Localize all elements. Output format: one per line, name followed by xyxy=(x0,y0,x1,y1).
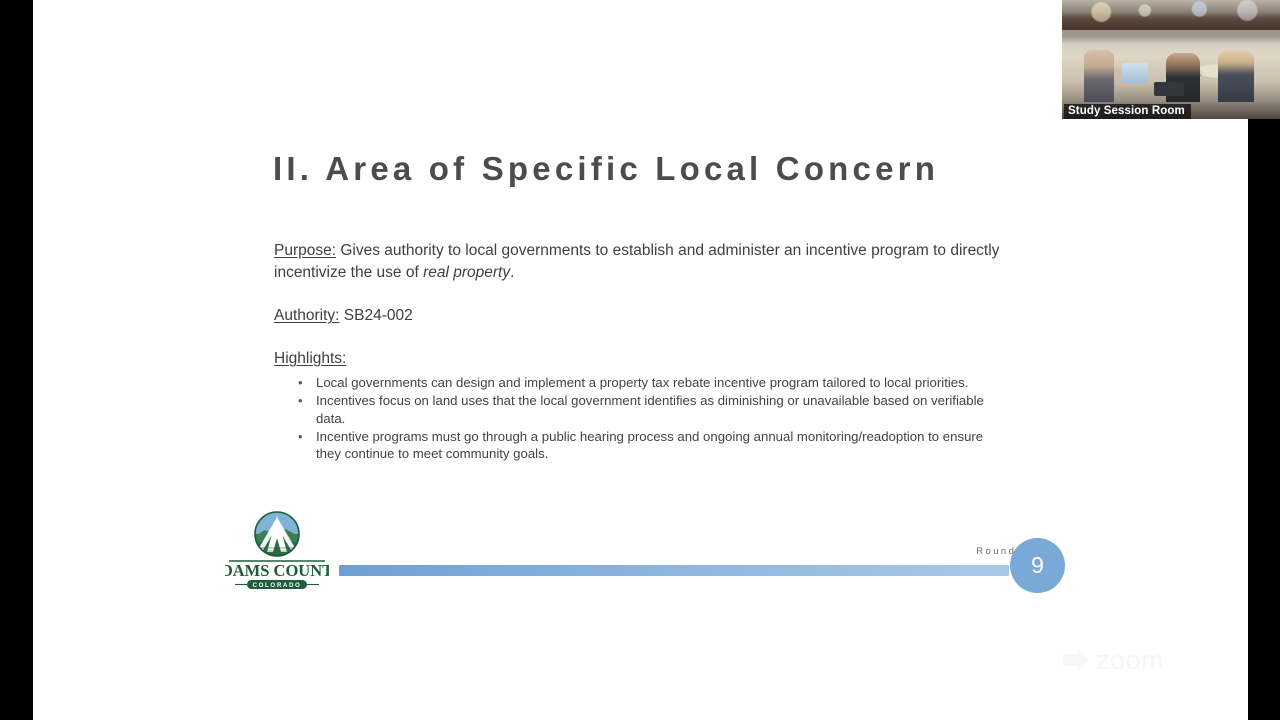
purpose-paragraph: Purpose: Gives authority to local govern… xyxy=(274,240,1004,284)
footer-accent-bar xyxy=(339,565,1009,576)
video-tile-overhead[interactable] xyxy=(1062,0,1280,30)
zoom-watermark: zoom xyxy=(1063,640,1233,680)
laptop-icon xyxy=(1154,82,1184,96)
adams-county-logo: ADAMS COUNTY COLORADO xyxy=(225,508,329,592)
authority-label: Authority: xyxy=(274,307,339,324)
purpose-text-after: . xyxy=(510,264,514,281)
authority-value: SB24-002 xyxy=(344,307,413,324)
logo-secondary-text: COLORADO xyxy=(253,582,302,589)
highlights-heading: Highlights: xyxy=(274,348,1004,370)
highlights-label: Highlights: xyxy=(274,350,346,367)
video-thumbnail-panel[interactable]: Study Session Room xyxy=(1062,0,1280,119)
list-item: • Incentive programs must go through a p… xyxy=(274,428,1010,463)
highlights-list: • Local governments can design and imple… xyxy=(274,374,1010,463)
adams-county-seal-icon: ADAMS COUNTY COLORADO xyxy=(225,508,329,592)
list-item: • Local governments can design and imple… xyxy=(274,374,1010,392)
room-name-label: Study Session Room xyxy=(1064,104,1191,119)
bullet-icon: • xyxy=(298,428,303,446)
purpose-italic-term: real property xyxy=(423,264,510,281)
list-item: • Incentives focus on land uses that the… xyxy=(274,392,1010,427)
authority-paragraph: Authority: SB24-002 xyxy=(274,305,1004,327)
logo-primary-text: ADAMS COUNTY xyxy=(225,561,329,580)
list-item-text: Incentive programs must go through a pub… xyxy=(316,429,983,462)
slide-body: Purpose: Gives authority to local govern… xyxy=(274,240,1004,463)
list-item-text: Local governments can design and impleme… xyxy=(316,375,968,390)
monitor-glow xyxy=(1122,63,1148,83)
participant-right xyxy=(1218,50,1254,103)
presentation-screen: II. Area of Specific Local Concern Purpo… xyxy=(0,0,1280,720)
spacer-purpose-authority xyxy=(274,284,1004,305)
purpose-text-before: Gives authority to local governments to … xyxy=(274,242,999,281)
purpose-label: Purpose: xyxy=(274,242,336,259)
watermark-text: zoom xyxy=(1096,645,1164,676)
page-number-badge: 9 xyxy=(1010,538,1065,593)
bullet-icon: • xyxy=(298,374,303,392)
list-item-text: Incentives focus on land uses that the l… xyxy=(316,393,984,426)
video-camera-icon xyxy=(1063,650,1089,670)
spacer-authority-highlights xyxy=(274,327,1004,348)
page-title: II. Area of Specific Local Concern xyxy=(273,150,939,188)
participant-left xyxy=(1084,50,1114,102)
bullet-icon: • xyxy=(298,392,303,410)
